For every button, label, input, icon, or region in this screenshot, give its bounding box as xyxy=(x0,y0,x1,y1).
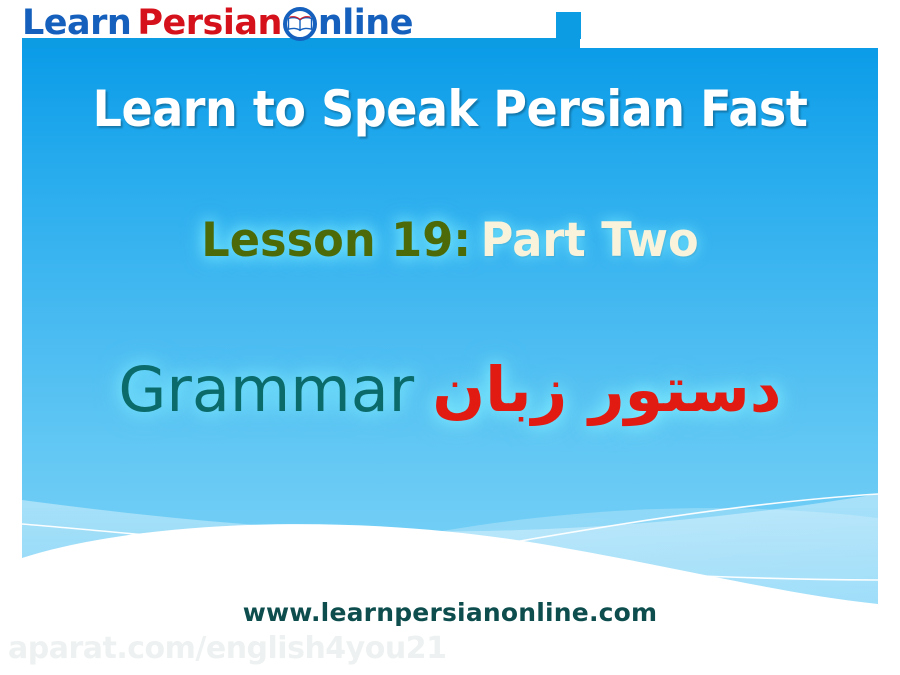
slide-body-panel: Learn to Speak Persian Fast Lesson 19:Pa… xyxy=(22,48,878,608)
topic-label-english: Grammar xyxy=(118,353,414,426)
logo-word-learn: Learn xyxy=(22,3,131,43)
wave-decoration xyxy=(22,408,878,608)
topic-heading: Grammarدستور زبان xyxy=(22,353,878,426)
open-book-circle-icon xyxy=(283,7,317,41)
slide-canvas: LearnPersian nline xyxy=(0,0,900,675)
lesson-part-label: Part Two xyxy=(471,213,699,268)
topic-label-persian: دستور زبان xyxy=(414,353,781,426)
logo-word-persian: Persian xyxy=(131,3,282,43)
site-logo[interactable]: LearnPersian nline xyxy=(22,6,602,52)
open-book-icon xyxy=(287,16,313,32)
logo-text: LearnPersian nline xyxy=(22,3,413,43)
lesson-heading: Lesson 19:Part Two xyxy=(43,213,856,268)
watermark-text: aparat.com/english4you21 xyxy=(8,631,446,666)
site-url-text[interactable]: www.learnpersianonline.com xyxy=(0,598,900,627)
page-title: Learn to Speak Persian Fast xyxy=(56,80,844,138)
lesson-number-label: Lesson 19: xyxy=(201,213,471,268)
logo-word-online: nline xyxy=(318,3,413,43)
